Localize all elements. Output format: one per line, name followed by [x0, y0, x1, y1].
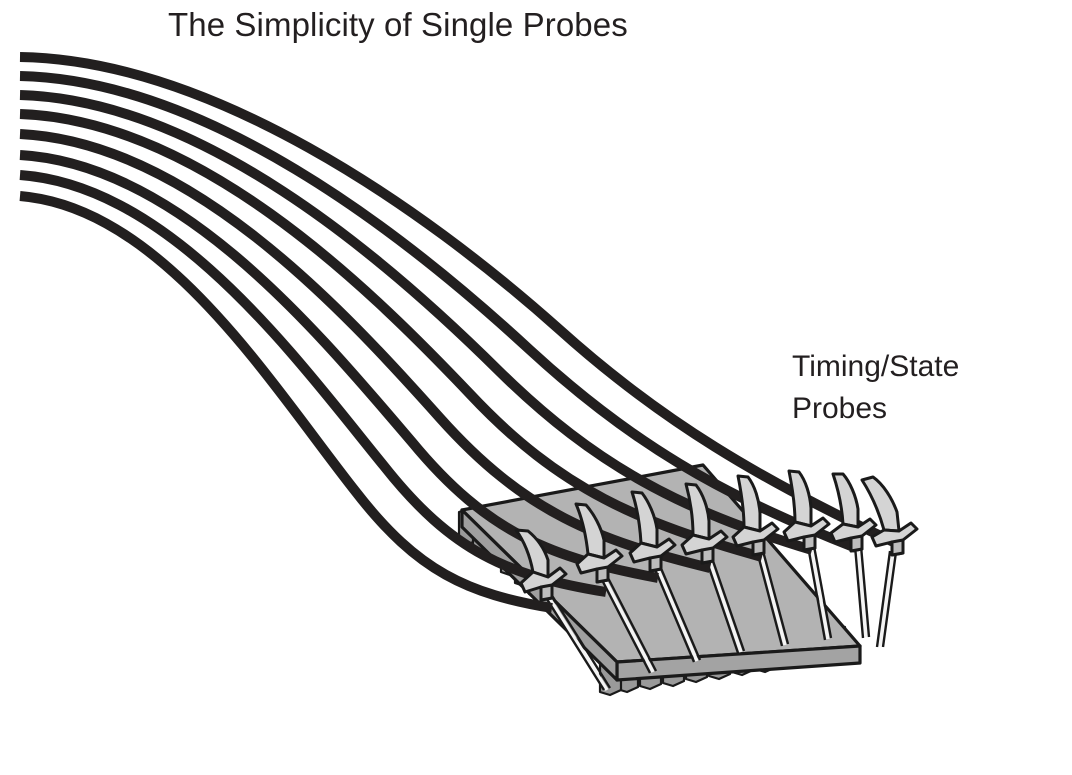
page-title: The Simplicity of Single Probes — [168, 6, 628, 44]
probe-shade — [892, 540, 903, 555]
technical-illustration: The Simplicity of Single Probes Timing/S… — [0, 0, 1072, 770]
lead-core — [880, 551, 893, 646]
cable — [20, 57, 900, 545]
probe-shade — [851, 536, 862, 551]
probe-shade — [753, 540, 764, 555]
probe-shade — [597, 567, 608, 582]
probes-annotation-line-2: Probes — [792, 388, 959, 430]
probes-annotation-label: Timing/State Probes — [792, 346, 959, 430]
probes-annotation-line-1: Timing/State — [792, 346, 959, 388]
probe-shade — [650, 556, 661, 571]
probe-shade — [804, 535, 815, 550]
probe-shade — [541, 585, 552, 600]
probe-shade — [702, 548, 713, 563]
probe-clip — [862, 477, 917, 555]
